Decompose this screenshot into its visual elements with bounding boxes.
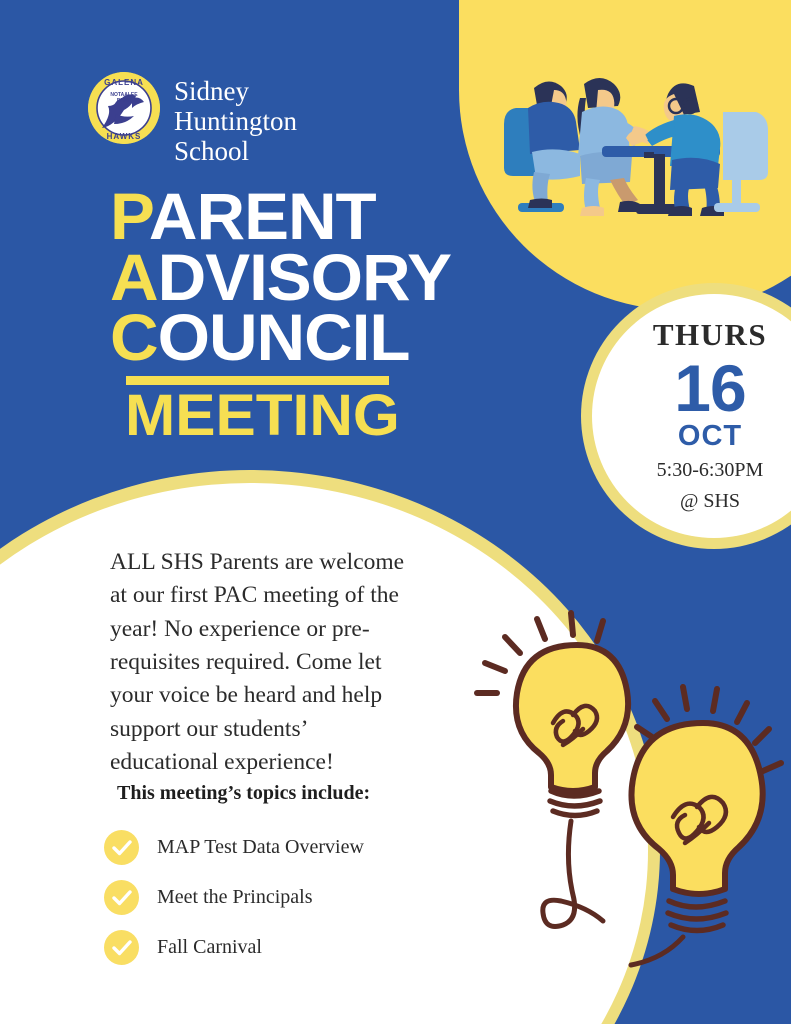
date-location: @ SHS	[630, 490, 790, 513]
title-line-advisory: ADVISORY	[110, 247, 451, 308]
poster: THURS 16 OCT 5:30-6:30PM @ SHS GALENA HA…	[0, 0, 791, 1024]
topic-label: MAP Test Data Overview	[157, 836, 364, 859]
date-time: 5:30-6:30PM	[630, 459, 790, 482]
list-item: Meet the Principals	[104, 872, 434, 922]
list-item: MAP Test Data Overview	[104, 822, 434, 872]
page-title: PARENT ADVISORY COUNCIL	[110, 186, 444, 368]
meeting-scene-illustration	[498, 60, 778, 235]
date-badge-content: THURS 16 OCT 5:30-6:30PM @ SHS	[592, 294, 791, 538]
svg-text:DENH: DENH	[117, 98, 132, 104]
title-line-council: COUNCIL	[110, 307, 451, 368]
date-weekday: THURS	[630, 319, 790, 350]
topic-label: Meet the Principals	[157, 886, 313, 909]
school-logo: GALENA HAWKS NOTAALEE DENH	[88, 72, 160, 144]
svg-text:HAWKS: HAWKS	[107, 132, 142, 141]
title-subtitle: MEETING	[125, 387, 400, 445]
lightbulbs-illustration	[455, 605, 791, 995]
topics-list: MAP Test Data Overview Meet the Principa…	[104, 822, 434, 972]
school-name-line-3: School	[174, 136, 297, 166]
title-rest-council: OUNCIL	[158, 300, 410, 374]
list-item: Fall Carnival	[104, 922, 434, 972]
date-day: 16	[630, 354, 790, 423]
school-name-line-1: Sidney	[174, 76, 297, 106]
topic-label: Fall Carnival	[157, 936, 262, 959]
title-line-parent: PARENT	[110, 186, 451, 247]
check-icon	[104, 880, 139, 915]
title-cap-c: C	[110, 300, 158, 374]
school-name-line-2: Huntington	[174, 106, 297, 136]
school-name: Sidney Huntington School	[174, 72, 297, 167]
check-icon	[104, 930, 139, 965]
school-header: GALENA HAWKS NOTAALEE DENH Sidney Huntin…	[88, 72, 297, 167]
body-paragraph: ALL SHS Parents are welcome at our first…	[110, 546, 420, 780]
topics-heading: This meeting’s topics include:	[117, 782, 370, 805]
check-icon	[104, 830, 139, 865]
date-month: OCT	[630, 422, 790, 451]
svg-text:GALENA: GALENA	[104, 78, 144, 87]
